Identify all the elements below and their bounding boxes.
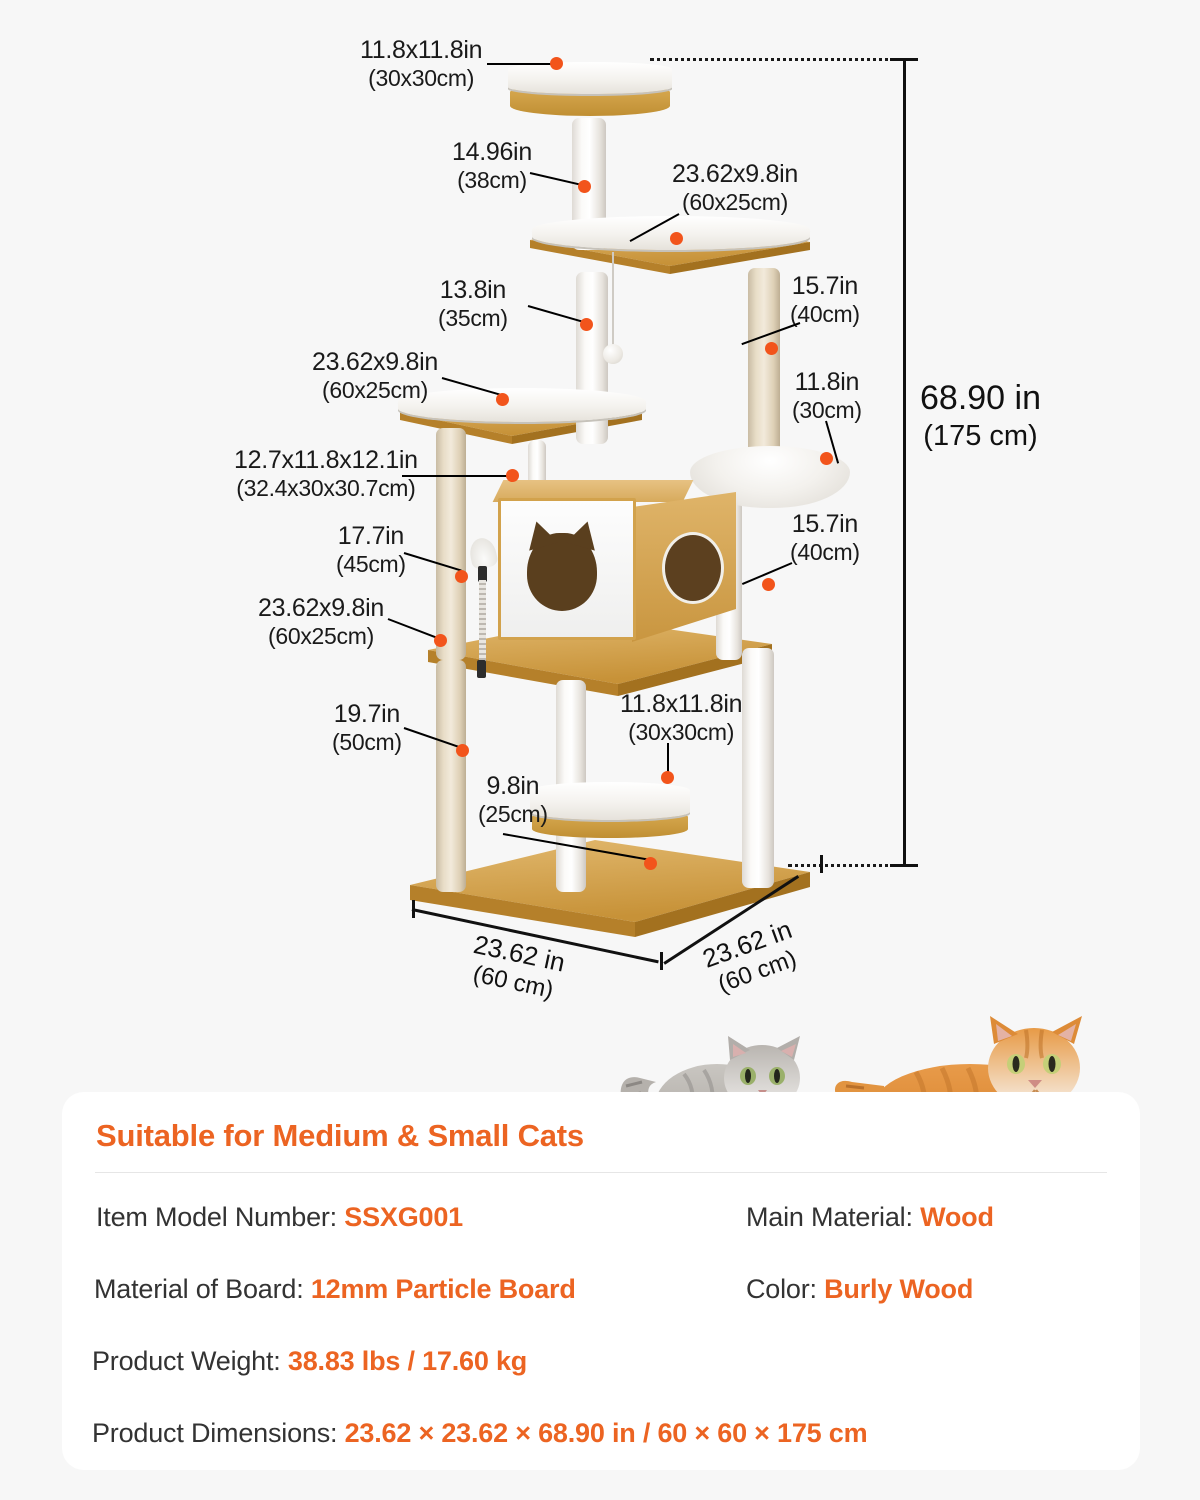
callout-bowl-width: 11.8in (30cm) <box>792 368 862 424</box>
callout-mid-shelf: 23.62x9.8in (60x25cm) <box>312 348 438 404</box>
callout-second-post: 13.8in (35cm) <box>438 276 508 332</box>
post-left-lower-sisal <box>436 660 466 892</box>
callout-right-post-lower-metric: (40cm) <box>790 539 860 566</box>
callout-left-post-lower: 19.7in (50cm) <box>332 700 402 756</box>
callout-right-post-lower: 15.7in (40cm) <box>790 510 860 566</box>
dot-bowl-width <box>820 452 833 465</box>
feather-toy-spring <box>479 580 486 662</box>
callout-condo-imperial: 12.7x11.8x12.1in <box>234 446 418 475</box>
spec-product-dimensions-value: 23.62 × 23.62 × 68.90 in / 60 × 60 × 175… <box>345 1418 868 1448</box>
dangling-toy-string <box>612 252 614 348</box>
dot-mid-shelf <box>496 393 509 406</box>
spec-item-model-number-value: SSXG001 <box>344 1202 463 1232</box>
callout-base-post-imperial: 9.8in <box>478 772 548 801</box>
post-left-upper-sisal <box>436 428 466 660</box>
dot-top-post <box>578 180 591 193</box>
dot-left-post-lower <box>456 744 469 757</box>
callout-mid-shelf-metric: (60x25cm) <box>312 377 438 404</box>
leader-top-perch <box>487 63 554 65</box>
callout-second-post-imperial: 13.8in <box>438 276 508 305</box>
product-infographic-page: 11.8x11.8in (30x30cm) 14.96in (38cm) 23.… <box>0 0 1200 1500</box>
callout-left-post-lower-imperial: 19.7in <box>332 700 402 729</box>
total-height-imperial: 68.90 in <box>920 378 1041 419</box>
base-width-tick-left <box>412 900 415 918</box>
callout-base-perch-imperial: 11.8x11.8in <box>620 690 742 719</box>
callout-upper-shelf-metric: (60x25cm) <box>672 189 798 216</box>
spec-product-weight-label: Product Weight: <box>92 1346 288 1376</box>
callout-base-perch: 11.8x11.8in (30x30cm) <box>620 690 742 746</box>
spec-item-model-number: Item Model Number: SSXG001 <box>96 1202 463 1233</box>
callout-top-perch-imperial: 11.8x11.8in <box>360 36 482 65</box>
callout-base-post-metric: (25cm) <box>478 801 548 828</box>
spec-product-weight: Product Weight: 38.83 lbs / 17.60 kg <box>92 1346 527 1377</box>
condo-side-panel <box>632 492 736 642</box>
height-dim-vertical-line <box>903 58 906 866</box>
callout-upper-shelf-imperial: 23.62x9.8in <box>672 160 798 189</box>
callout-right-post-lower-imperial: 15.7in <box>790 510 860 539</box>
spec-item-model-number-label: Item Model Number: <box>96 1202 344 1232</box>
callout-top-post: 14.96in (38cm) <box>452 138 532 194</box>
callout-top-post-metric: (38cm) <box>452 167 532 194</box>
cat-condo-house <box>494 480 744 660</box>
specifications-card: Suitable for Medium & Small Cats Item Mo… <box>62 1092 1140 1470</box>
callout-upper-shelf: 23.62x9.8in (60x25cm) <box>672 160 798 216</box>
height-dim-top-leader <box>650 58 902 61</box>
dot-right-post-lower <box>762 578 775 591</box>
dot-right-post-upper <box>765 342 778 355</box>
dot-second-post <box>580 318 593 331</box>
dot-base-perch <box>661 771 674 784</box>
callout-right-post-upper-imperial: 15.7in <box>790 272 860 301</box>
callout-lower-shelf-imperial: 23.62x9.8in <box>258 594 384 623</box>
dot-left-post-upper <box>455 570 468 583</box>
callout-lower-shelf: 23.62x9.8in (60x25cm) <box>258 594 384 650</box>
base-width-tick-right <box>660 952 663 970</box>
base-depth-tick-top <box>820 855 823 873</box>
callout-left-post-upper: 17.7in (45cm) <box>336 522 406 578</box>
callout-condo: 12.7x11.8x12.1in (32.4x30x30.7cm) <box>234 446 418 502</box>
callout-second-post-metric: (35cm) <box>438 305 508 332</box>
callout-left-post-upper-metric: (45cm) <box>336 551 406 578</box>
spec-color-value: Burly Wood <box>824 1274 973 1304</box>
height-dim-bottom-leader <box>788 864 902 867</box>
dangling-toy-ball <box>603 344 623 364</box>
spec-main-material: Main Material: Wood <box>746 1202 994 1233</box>
callout-left-post-lower-metric: (50cm) <box>332 729 402 756</box>
spec-main-material-value: Wood <box>920 1202 994 1232</box>
dot-base-post <box>644 857 657 870</box>
callout-base-perch-metric: (30x30cm) <box>620 719 742 746</box>
spec-card-divider <box>95 1172 1107 1173</box>
total-height-dimension: 68.90 in (175 cm) <box>920 378 1041 454</box>
condo-round-opening <box>662 532 724 604</box>
dot-top-perch <box>550 57 563 70</box>
callout-top-perch-metric: (30x30cm) <box>360 65 482 92</box>
spec-product-dimensions: Product Dimensions: 23.62 × 23.62 × 68.9… <box>92 1418 867 1449</box>
post-right-lower-plush <box>742 648 774 888</box>
callout-lower-shelf-metric: (60x25cm) <box>258 623 384 650</box>
callout-condo-metric: (32.4x30x30.7cm) <box>234 475 418 502</box>
spec-product-dimensions-label: Product Dimensions: <box>92 1418 345 1448</box>
dot-condo <box>506 469 519 482</box>
callout-base-post: 9.8in (25cm) <box>478 772 548 828</box>
feather-toy-base-clip <box>477 660 486 678</box>
dot-upper-shelf <box>670 232 683 245</box>
spec-material-of-board-value: 12mm Particle Board <box>311 1274 576 1304</box>
callout-left-post-upper-imperial: 17.7in <box>336 522 406 551</box>
spec-card-title: Suitable for Medium & Small Cats <box>96 1118 584 1154</box>
callout-top-perch: 11.8x11.8in (30x30cm) <box>360 36 482 92</box>
condo-front-panel <box>498 498 636 640</box>
dot-lower-shelf <box>434 634 447 647</box>
callout-right-post-upper: 15.7in (40cm) <box>790 272 860 328</box>
callout-bowl-width-imperial: 11.8in <box>792 368 862 397</box>
callout-mid-shelf-imperial: 23.62x9.8in <box>312 348 438 377</box>
callout-top-post-imperial: 14.96in <box>452 138 532 167</box>
spec-material-of-board: Material of Board: 12mm Particle Board <box>94 1274 576 1305</box>
spec-material-of-board-label: Material of Board: <box>94 1274 311 1304</box>
spec-product-weight-value: 38.83 lbs / 17.60 kg <box>288 1346 527 1376</box>
spec-color: Color: Burly Wood <box>746 1274 973 1305</box>
perch-top-plush <box>508 62 672 94</box>
leader-condo <box>402 475 510 477</box>
spec-color-label: Color: <box>746 1274 824 1304</box>
perch-base-plush <box>530 782 690 820</box>
spec-main-material-label: Main Material: <box>746 1202 920 1232</box>
total-height-metric: (175 cm) <box>920 419 1041 454</box>
